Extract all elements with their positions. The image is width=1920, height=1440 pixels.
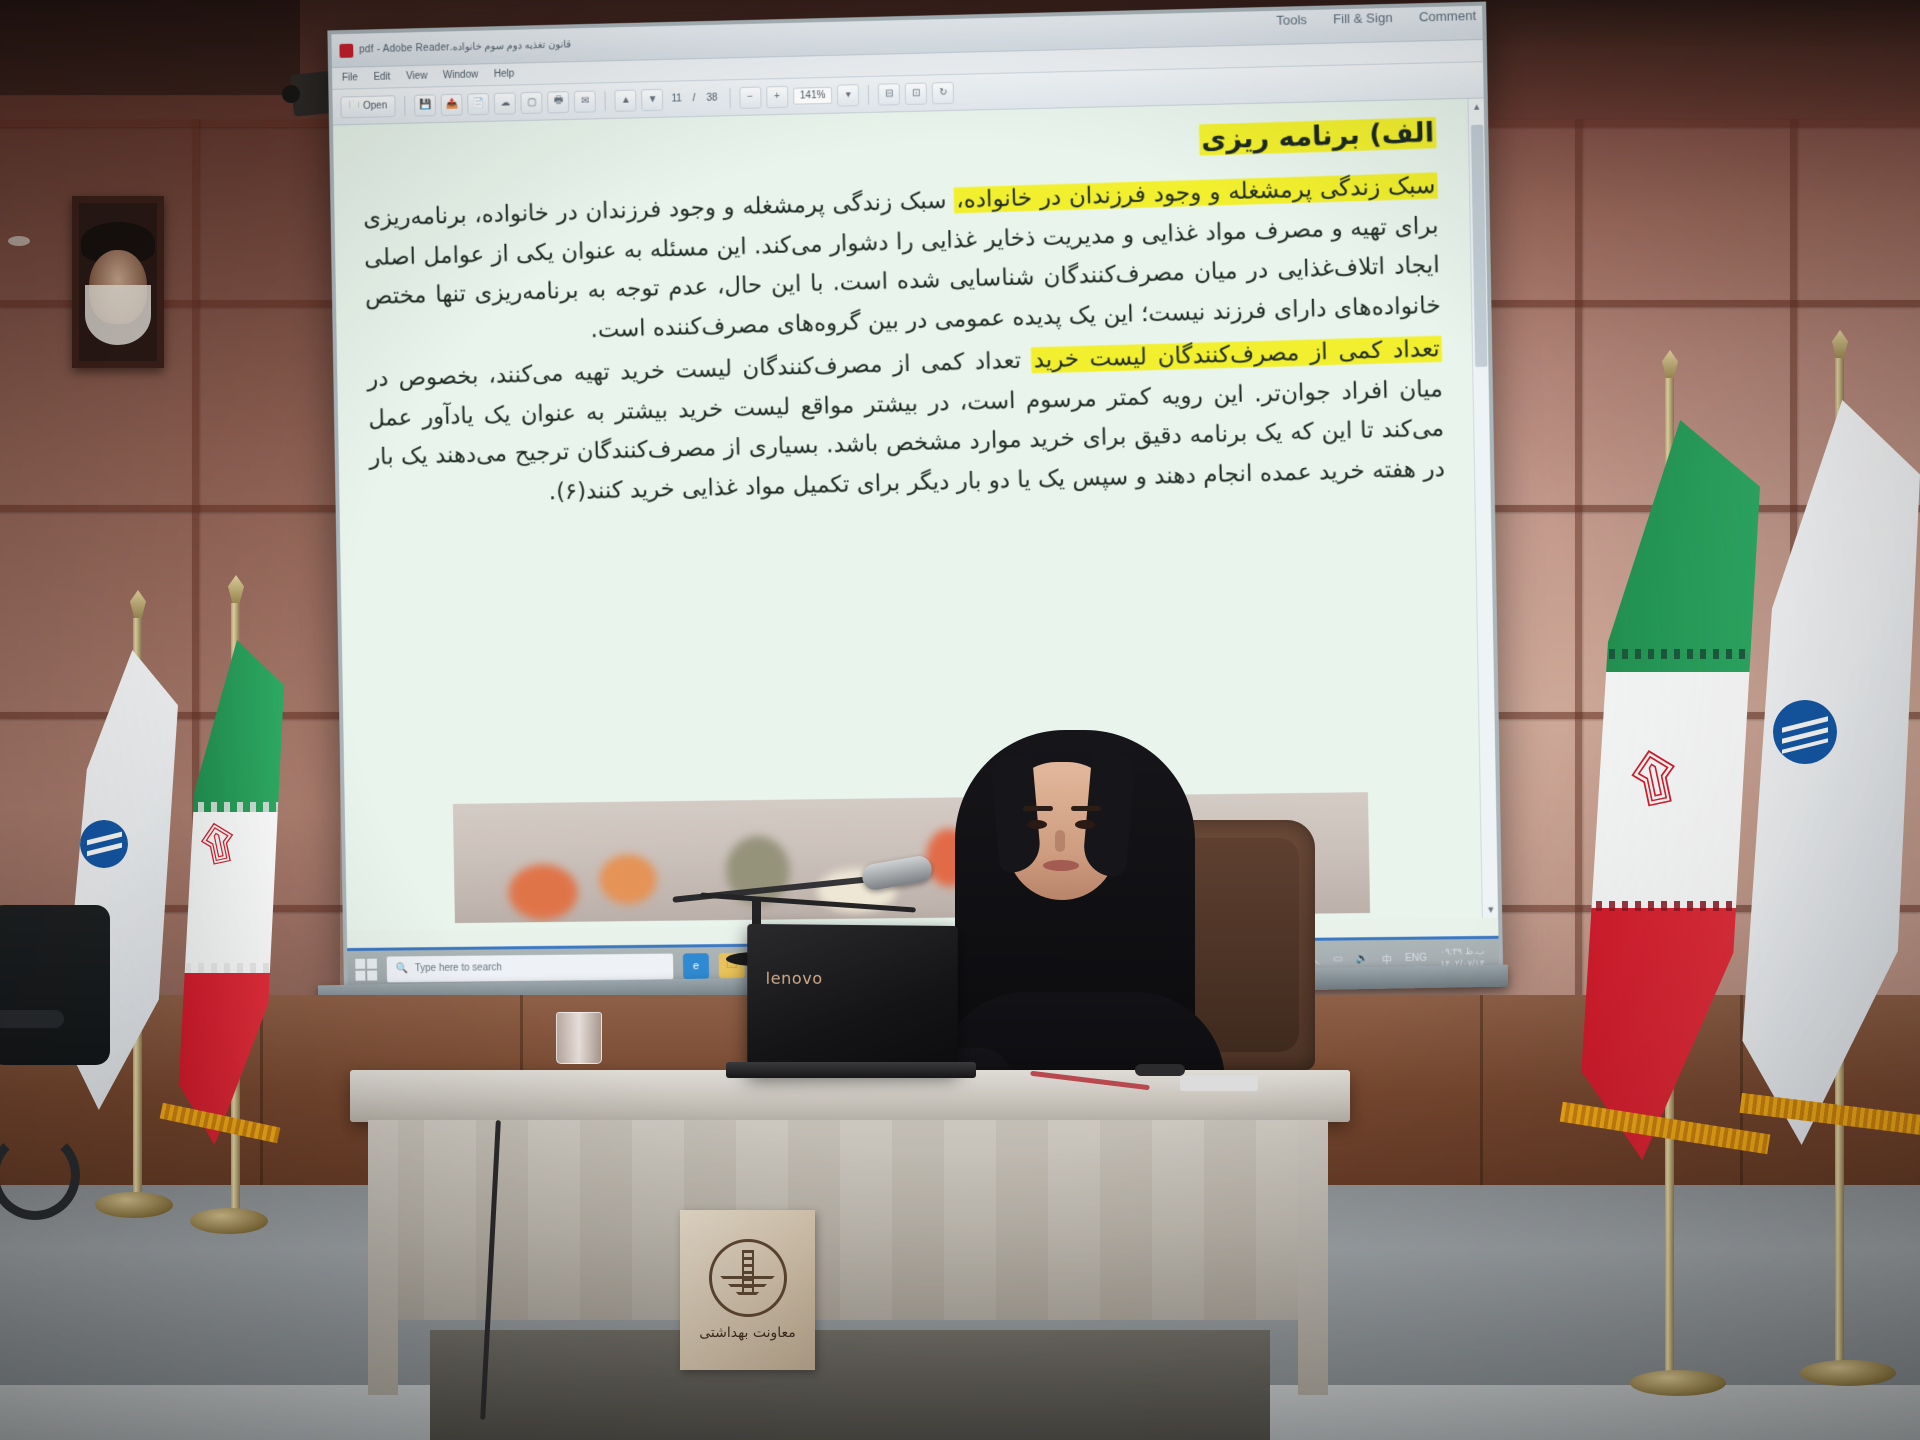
eye-left (1027, 820, 1047, 829)
ime-icon[interactable]: 中 (1382, 951, 1392, 966)
menu-file[interactable]: File (342, 72, 358, 83)
wall-grout-line (1575, 120, 1582, 1000)
water-glass (556, 1012, 602, 1064)
podium-desk-front (372, 1120, 1328, 1320)
desk-leg-right (1298, 1120, 1328, 1395)
projected-desktop: قانون تغذیه دوم سوم خانواده.pdf - Adobe … (331, 6, 1499, 988)
start-button-icon[interactable] (355, 958, 377, 980)
projection-screen: قانون تغذیه دوم سوم خانواده.pdf - Adobe … (327, 2, 1503, 992)
cloud-icon[interactable]: ☁ (494, 92, 516, 114)
page-current[interactable]: 11 (668, 93, 684, 104)
lips (1043, 860, 1079, 871)
open-label: Open (363, 100, 387, 111)
toolbar-separator (729, 88, 730, 108)
zoom-in-button[interactable]: + (766, 85, 788, 107)
kufic-band-bottom (1570, 901, 1760, 911)
export-icon[interactable]: 📄 (468, 93, 490, 115)
page-icon[interactable]: ▢ (521, 91, 543, 113)
tab-comment[interactable]: Comment (1419, 8, 1477, 25)
folder-icon: 🗀 (349, 98, 359, 115)
flag-base (1800, 1360, 1896, 1386)
pdf-page[interactable]: الف) برنامه ریزی سبک زندگی پرمشغله و وجو… (333, 99, 1482, 930)
page-total: 38 (703, 92, 720, 103)
zoom-level-field[interactable]: 141% (793, 87, 833, 105)
toolbar-separator (868, 84, 869, 104)
eye-right (1075, 820, 1095, 829)
ceiling-panel (0, 0, 300, 96)
smoke-detector (8, 236, 30, 246)
next-page-icon[interactable]: ▼ (642, 88, 664, 110)
email-icon[interactable]: ✉ (574, 90, 596, 112)
desk-shadow-recess (430, 1330, 1270, 1440)
clock-time: ۰۹:۳۹ ب.ظ (1440, 946, 1485, 958)
acrobat-icon (339, 43, 353, 57)
wall-portrait (72, 196, 164, 368)
fit-width-icon[interactable]: ⊡ (905, 82, 927, 105)
portrait-beard (85, 285, 151, 345)
org-logo-icon (1773, 700, 1837, 764)
zoom-out-button[interactable]: − (739, 86, 761, 108)
volume-icon[interactable]: 🔊 (1356, 953, 1369, 964)
side-chair-left (0, 905, 110, 1065)
institution-plaque: معاونت بهداشتی (680, 1210, 815, 1370)
pdf-document-text: الف) برنامه ریزی سبک زندگی پرمشغله و وجو… (333, 99, 1476, 518)
menu-help[interactable]: Help (494, 69, 514, 80)
org-logo-icon (80, 820, 128, 868)
nose (1055, 830, 1065, 852)
chair-armrest (0, 1010, 64, 1028)
flag-base (95, 1192, 173, 1218)
network-icon[interactable]: ▭ (1333, 954, 1343, 965)
previous-page-icon[interactable]: ▲ (615, 89, 637, 111)
open-button[interactable]: 🗀 Open (340, 95, 396, 118)
presentation-clicker (1135, 1064, 1185, 1076)
window-title: قانون تغذیه دوم سوم خانواده.pdf - Adobe … (359, 39, 571, 55)
speaker-person (955, 730, 1215, 1120)
toolbar-separator (405, 96, 406, 116)
share-icon[interactable]: 📤 (441, 93, 463, 115)
menu-window[interactable]: Window (443, 69, 478, 81)
eyebrow-right (1071, 806, 1101, 811)
laptop-lid: lenovo (747, 924, 957, 1074)
fit-page-icon[interactable]: ⊟ (878, 83, 900, 106)
plaque-text: معاونت بهداشتی (699, 1325, 796, 1341)
search-placeholder: Type here to search (415, 962, 502, 974)
ministry-health-emblem-icon (709, 1239, 787, 1317)
menu-view[interactable]: View (406, 71, 427, 82)
toolbar-separator (605, 91, 606, 111)
chevron-lines-icon (720, 1276, 775, 1304)
scroll-up-arrow[interactable]: ▲ (1468, 98, 1485, 115)
rotate-icon[interactable]: ↻ (932, 81, 954, 104)
iran-emblem-icon: ۩ (1620, 743, 1688, 808)
tab-tools[interactable]: Tools (1276, 12, 1307, 28)
pdf-paragraph: تعداد کمی از مصرف‌کنندگان لیست خرید تعدا… (367, 330, 1446, 518)
laptop-base (726, 1062, 976, 1078)
save-icon[interactable]: 💾 (414, 94, 436, 116)
scroll-down-arrow[interactable]: ▼ (1483, 901, 1500, 917)
flag-base (190, 1208, 268, 1234)
language-indicator[interactable]: ENG (1405, 953, 1427, 964)
print-icon[interactable]: 🖶 (548, 91, 570, 113)
pdf-paragraph: سبک زندگی پرمشغله و وجود فرزندان در خانو… (363, 166, 1442, 356)
flag-base (1630, 1370, 1726, 1396)
conference-hall-scene: قانون تغذیه دوم سوم خانواده.pdf - Adobe … (0, 0, 1920, 1440)
adobe-right-tabs: Tools Fill & Sign Comment (1276, 8, 1476, 28)
page-separator: / (690, 93, 699, 104)
kufic-band-bottom (172, 963, 284, 973)
desk-leg-left (368, 1120, 398, 1395)
ac-grill (1470, 0, 1920, 46)
search-icon: 🔍 (396, 963, 408, 974)
laptop-brand-label: lenovo (766, 969, 823, 988)
chevron-down-icon[interactable]: ▾ (837, 84, 859, 106)
search-input[interactable]: 🔍 Type here to search (387, 953, 674, 982)
tab-fill-and-sign[interactable]: Fill & Sign (1333, 10, 1393, 27)
remote-control (1180, 1075, 1258, 1091)
menu-edit[interactable]: Edit (373, 72, 390, 83)
eyebrow-left (1023, 806, 1053, 811)
edge-icon[interactable]: e (683, 953, 709, 979)
